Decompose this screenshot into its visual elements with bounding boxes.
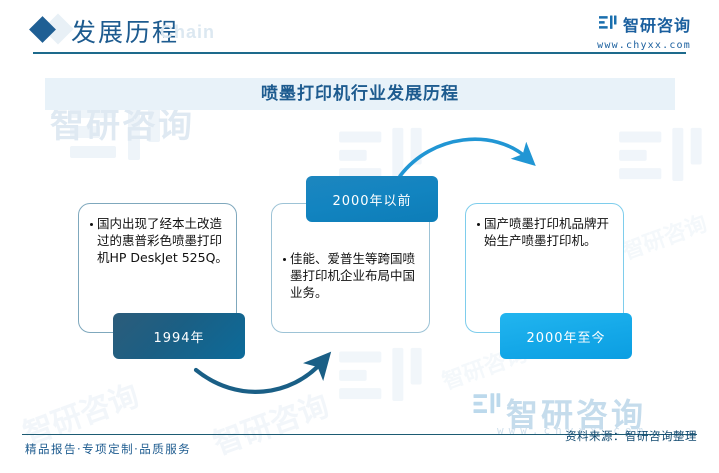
page-header: 发展历程 Chain 智研咨询 www.chyxx.com <box>0 0 719 60</box>
watermark-logo-mark-4 <box>330 340 440 418</box>
stage-text-1: 国内出现了经本土改造过的惠普彩色喷墨打印机HP DeskJet 525Q。 <box>97 215 229 266</box>
stage-badge-2[interactable]: 2000年以前 <box>306 176 438 222</box>
bullet-icon-1 <box>90 223 93 226</box>
brand-block: 智研咨询 www.chyxx.com <box>597 12 691 51</box>
watermark-diagonal-4: 智研咨询 <box>617 206 711 266</box>
connector-1 <box>196 362 322 392</box>
stage-text-3: 国产喷墨打印机品牌开始生产喷墨打印机。 <box>484 215 616 249</box>
stage-card-2: 佳能、爱普生等跨国喷墨打印机企业布局中国业务。 <box>271 203 430 333</box>
brand-url[interactable]: www.chyxx.com <box>597 40 691 51</box>
footer-source: 资料来源：智研咨询整理 <box>565 428 697 444</box>
chart-title-band: 喷墨打印机行业发展历程 <box>45 78 675 110</box>
page-subtitle: Chain <box>160 22 215 43</box>
bullet-icon-2 <box>283 258 286 261</box>
brand-name: 智研咨询 <box>623 12 691 36</box>
watermark-bottom-logo-mark <box>472 392 502 420</box>
footer-tagline: 精品报告·专项定制·品质服务 <box>25 441 191 457</box>
watermark-logo-mark-3 <box>610 120 719 198</box>
header-divider <box>33 52 686 54</box>
connector-2 <box>400 139 527 176</box>
slide-page: 智研咨询 智研咨询 智研咨询 智研咨询 智研咨询 <box>0 0 719 473</box>
stage-badge-3[interactable]: 2000年至今 <box>500 313 632 359</box>
stage-badge-1[interactable]: 1994年 <box>113 313 245 359</box>
stage-text-2: 佳能、爱普生等跨国喷墨打印机企业布局中国业务。 <box>290 250 422 301</box>
bullet-icon-3 <box>477 223 480 226</box>
watermark-diagonal-2: 智研咨询 <box>206 381 334 463</box>
brand-logo-icon <box>598 14 618 34</box>
chart-title: 喷墨打印机行业发展历程 <box>45 78 675 110</box>
